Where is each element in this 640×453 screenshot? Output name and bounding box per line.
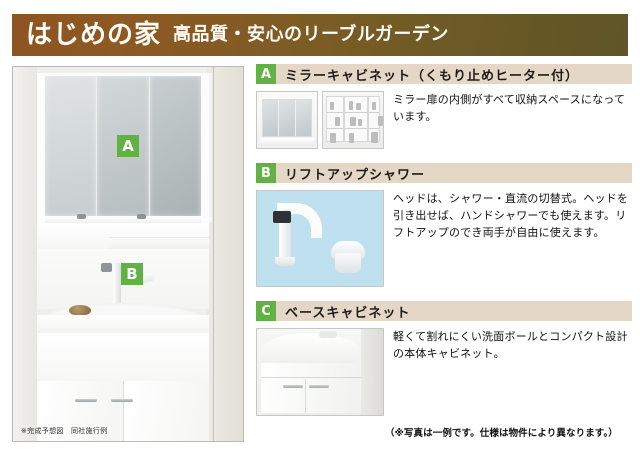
shelf-item	[356, 103, 361, 110]
section-b-description: ヘッドは、シャワー・直流の切替式。ヘッドを引き出せば、ハンドシャワーでも使えます…	[393, 190, 632, 287]
brochure-page: はじめの家 高品質・安心のリーブルガーデン	[0, 0, 640, 453]
shelf-item	[358, 119, 362, 126]
faucet-head	[101, 263, 112, 272]
cabinet-handle-right	[309, 385, 329, 388]
section-a-body: ミラー扉の内側がすべて収納スペースになっています。	[256, 91, 632, 149]
section-c-description: 軽くて割れにくい洗面ボールとコンパクト設計の本体キャビネット。	[393, 328, 632, 416]
shelf-item	[330, 102, 334, 110]
section-a-description: ミラー扉の内側がすべて収納スペースになっています。	[393, 91, 632, 149]
cabinet-side-wall	[361, 329, 383, 415]
thumb-mirror-frame	[262, 99, 312, 137]
thumb-mirror-pane-2	[279, 100, 295, 136]
mirror-cabinet-open-photo	[322, 91, 384, 149]
section-c-title: ベースキャビネット	[285, 302, 410, 321]
section-a: A ミラーキャビネット（くもり止めヒーター付）	[256, 64, 632, 149]
cabinet-drawer-line	[261, 377, 361, 378]
thumb-cabinet-base	[260, 138, 314, 146]
thumb-mirror-pane-1	[263, 100, 279, 136]
shelf-item	[378, 116, 383, 126]
shower-faucet-photo	[256, 190, 384, 287]
thumb-mirror-pane-3	[296, 100, 311, 136]
shelf-item	[372, 102, 376, 110]
vanity-hero-photo: A B C ※完成予想図 同社施行例	[12, 66, 244, 442]
shelf-line	[345, 128, 367, 129]
thumb-shelf-column-3	[368, 96, 380, 142]
section-a-thumbnails	[256, 91, 384, 149]
shelf-line	[345, 112, 367, 113]
shelf-item	[350, 117, 356, 126]
section-b: B リフトアップシャワー ヘッドは、シャワー・直流の切替式。ヘッドを引き出せば、…	[256, 163, 632, 287]
section-b-body: ヘッドは、シャワー・直流の切替式。ヘッドを引き出せば、ハンドシャワーでも使えます…	[256, 190, 632, 287]
thumb-closed-graphic	[257, 92, 317, 148]
cabinet-tap	[319, 331, 337, 338]
wall-right	[207, 67, 243, 441]
shower-spout-base	[275, 257, 295, 266]
door-handle-right	[111, 399, 133, 402]
brand-title: はじめの家	[26, 22, 161, 48]
section-c: C ベースキャビネット 軽	[256, 301, 632, 416]
shelf-line	[369, 128, 379, 129]
mirror-cabinet-closed-photo	[256, 91, 318, 149]
section-a-tag: A	[256, 64, 276, 84]
mixer-body	[335, 253, 361, 273]
base-cabinet-photo	[256, 328, 384, 416]
section-a-header: A ミラーキャビネット（くもり止めヒーター付）	[256, 64, 632, 84]
hero-photo-content: A B C ※完成予想図 同社施行例	[13, 67, 243, 441]
thumb-open-graphic	[323, 92, 383, 148]
shelf-item	[330, 133, 336, 143]
hero-badge-b: B	[121, 263, 143, 285]
thumb-shelf-column-1	[326, 96, 344, 142]
mirror-door-left	[45, 76, 97, 216]
vanity-door-right	[124, 381, 210, 442]
shelf-item	[349, 101, 353, 110]
cabinet-body	[261, 363, 361, 413]
page-header: はじめの家 高品質・安心のリーブルガーデン	[12, 14, 628, 56]
door-handle-left	[75, 399, 97, 402]
section-b-header: B リフトアップシャワー	[256, 163, 632, 183]
cabinet-door-split	[305, 379, 306, 413]
hero-caption: ※完成予想図 同社施行例	[21, 426, 107, 436]
section-b-thumbnails	[256, 190, 384, 287]
hero-badge-a: A	[117, 135, 139, 157]
section-c-body: 軽くて割れにくい洗面ボールとコンパクト設計の本体キャビネット。	[256, 328, 632, 416]
header-tagline: 高品質・安心のリーブルガーデン	[173, 26, 449, 44]
shelf-line	[327, 128, 343, 129]
section-c-tag: C	[256, 301, 276, 321]
faucet-neck	[113, 263, 121, 307]
mirror-door-right	[150, 76, 201, 216]
feature-sections: A ミラーキャビネット（くもり止めヒーター付）	[256, 64, 632, 424]
thumb-shelf-column-2	[344, 96, 368, 142]
page-footnote: （※写真は一例です。仕様は物件により異なります。）	[385, 425, 618, 439]
shelf-item	[335, 117, 340, 126]
cabinet-knob-right	[137, 214, 146, 219]
section-b-title: リフトアップシャワー	[285, 164, 425, 183]
wall-left	[13, 67, 37, 441]
vanity-drawer	[37, 333, 209, 382]
shelf-line	[369, 112, 379, 113]
cabinet-handle-left	[283, 385, 303, 388]
section-b-tag: B	[256, 163, 276, 183]
section-c-thumbnails	[256, 328, 384, 416]
shelf-item	[349, 133, 354, 143]
bowl-rim	[37, 315, 209, 334]
shelf-line	[327, 112, 343, 113]
section-a-title: ミラーキャビネット（くもり止めヒーター付）	[285, 65, 579, 84]
shelf-item	[371, 132, 378, 143]
cabinet-knob-left	[77, 214, 86, 219]
section-c-header: C ベースキャビネット	[256, 301, 632, 321]
shower-head-nozzle	[273, 211, 291, 223]
